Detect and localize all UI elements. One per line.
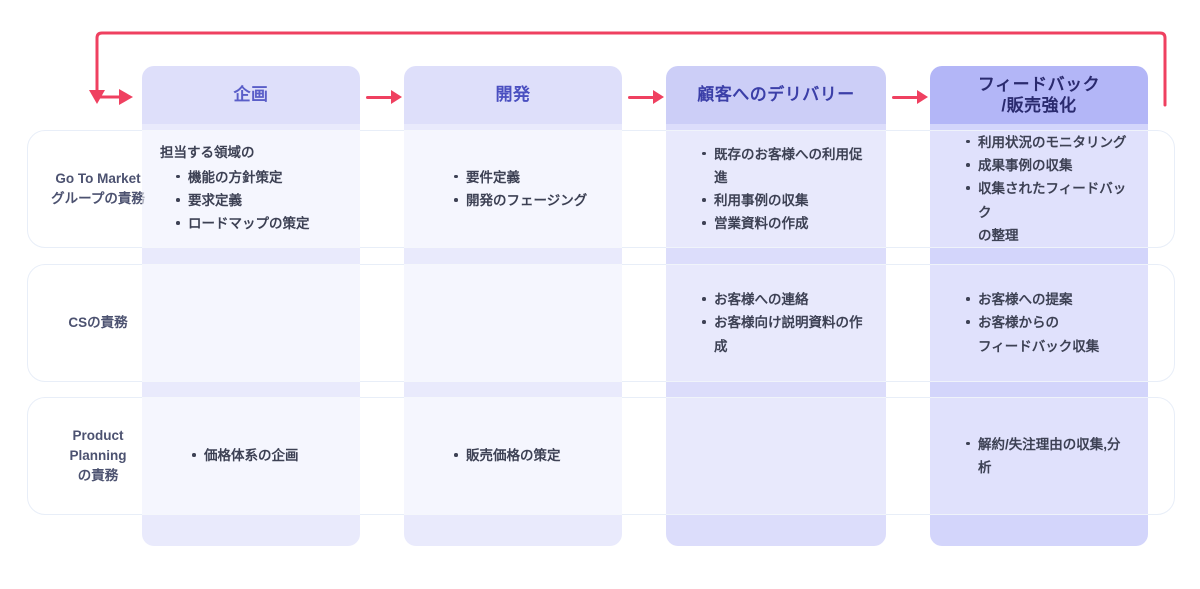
diagram-canvas: 企画 開発 顧客へのデリバリー フィードバック /販売強化 Go To Mark…	[0, 0, 1200, 589]
phase-arrow-1	[366, 87, 402, 107]
feedback-loop-arrow	[0, 0, 1200, 589]
phase-arrow-2	[628, 87, 664, 107]
phase-arrow-3	[892, 87, 928, 107]
